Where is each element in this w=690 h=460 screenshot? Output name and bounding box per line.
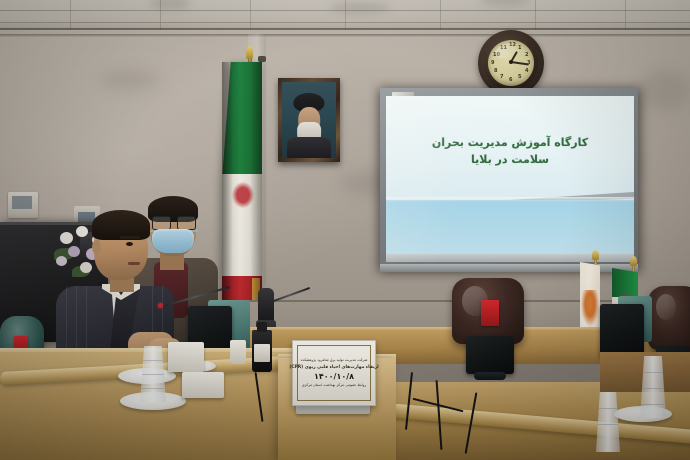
conference-room-photo: 12 1 2 3 4 5 6 7 8 9 10 11 xyxy=(0,0,690,460)
bottle-label xyxy=(254,344,270,362)
microphone-indicator-light xyxy=(158,303,163,308)
wall-ceiling-seam xyxy=(0,34,690,37)
flag-fold-shadow xyxy=(222,62,233,337)
disposable-cup-stack xyxy=(640,356,666,418)
microphone-head xyxy=(258,288,274,322)
framed-portrait xyxy=(278,78,340,162)
slide-title-line-2: سلامت در بلایا xyxy=(396,151,624,168)
desk-flag-finial-icon xyxy=(592,250,599,260)
chair-label-badge xyxy=(481,300,499,326)
clock-numeral: 1 xyxy=(518,46,521,51)
placard-line-2: ارتقاء مهارت‌های احیاء قلبی ریوی (CPR) xyxy=(289,365,378,371)
clock-numeral: 9 xyxy=(491,61,494,66)
monitor-base xyxy=(474,372,506,380)
speaker-eye xyxy=(126,242,133,246)
disposable-cup-stack xyxy=(596,392,620,452)
clock-center-pin xyxy=(509,60,513,64)
slide-title: کارگاه آموزش مدیریت بحران سلامت در بلایا xyxy=(396,134,624,168)
table-placard: شرکت مدیریت تولید برق شاهرود پژوهشکده ار… xyxy=(292,340,376,406)
portrait-image xyxy=(282,82,336,158)
slide-title-line-1: کارگاه آموزش مدیریت بحران xyxy=(396,134,624,151)
wall-panel-screen xyxy=(12,196,32,209)
slide-band-highlight xyxy=(386,197,634,202)
clock-numeral: 7 xyxy=(500,75,503,80)
speaker-ear xyxy=(92,240,101,254)
portrait-robe xyxy=(287,137,330,158)
tissue-box xyxy=(182,372,224,398)
placard-line-4: روابط عمومی مرکز بهداشت استان مرکزی xyxy=(302,383,367,388)
condiment-jar xyxy=(230,340,246,364)
desk-flag-emblem-icon xyxy=(581,290,599,326)
tissue-box xyxy=(168,342,204,372)
bottle-cap xyxy=(257,322,267,332)
clock-numeral: 8 xyxy=(494,69,497,74)
clock-numeral: 5 xyxy=(518,75,521,80)
speaker-mouth xyxy=(128,262,140,265)
desk-flag-finial-icon xyxy=(630,256,637,266)
clock-numeral: 2 xyxy=(525,53,528,58)
monitor-screen xyxy=(466,336,514,374)
placard-content: شرکت مدیریت تولید برق شاهرود پژوهشکده ار… xyxy=(297,345,371,401)
person-front-speaker xyxy=(56,212,174,362)
speaker-eyebrow xyxy=(120,236,140,239)
flag-finial-icon xyxy=(246,46,253,59)
disposable-cup-stack xyxy=(140,346,166,402)
projection-screen: کارگاه آموزش مدیریت بحران سلامت در بلایا xyxy=(386,96,634,262)
monitor-screen xyxy=(600,304,644,358)
placard-date: ۱۴۰۰/۱۰/۸ xyxy=(314,372,354,381)
clock-numeral: 6 xyxy=(509,78,512,83)
clock-numeral: 4 xyxy=(525,69,528,74)
placard-line-1: شرکت مدیریت تولید برق شاهرود پژوهشکده xyxy=(301,358,368,363)
